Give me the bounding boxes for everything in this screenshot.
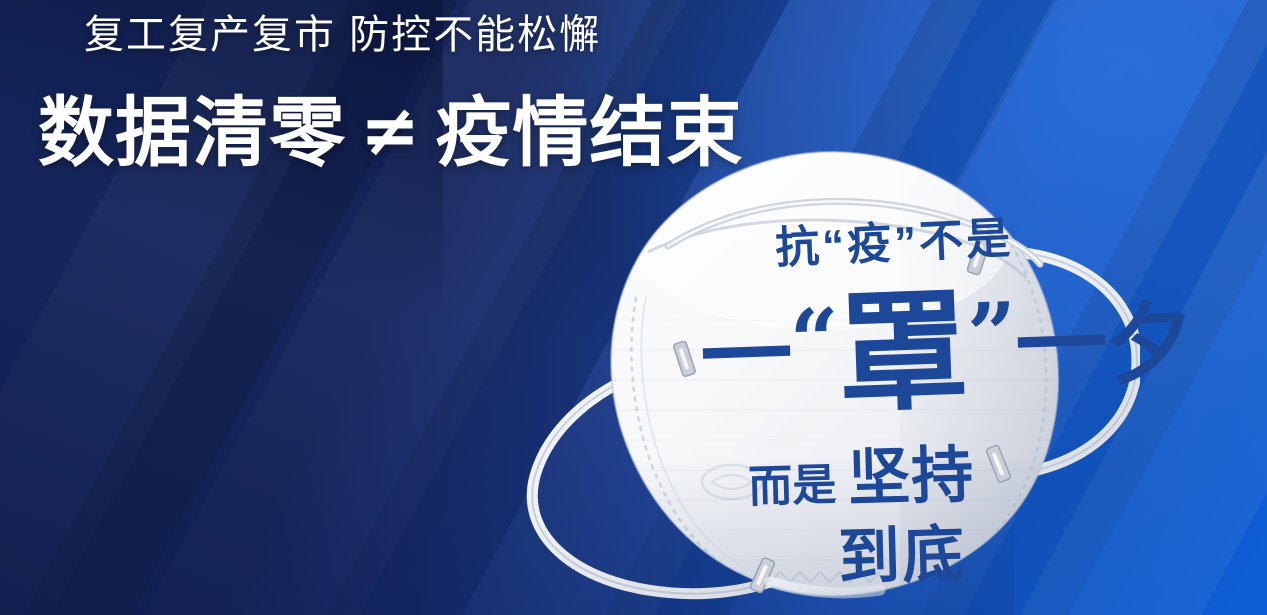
not-equal-icon: ≠ xyxy=(346,88,435,172)
mask-text-line1: 抗“疫”不是 xyxy=(774,202,1015,276)
mask-text-dash-1: 一 xyxy=(699,309,792,404)
main-title-right: 疫情结束 xyxy=(435,91,743,176)
mask-text-zhao: 罩 xyxy=(836,285,970,419)
kicker-text: 复工复产复市 防控不能松懈 xyxy=(84,12,601,58)
poster-canvas: 复工复产复市 防控不能松懈 数据清零≠疫情结束 抗“疫”不是 一“罩”一夕 而是… xyxy=(0,0,1267,615)
mask-text-line4: 到底 xyxy=(837,503,967,596)
mask-text-quote-close: ” xyxy=(966,292,1016,380)
mask-text-dash-2: 一 xyxy=(1014,298,1107,393)
mask-text-xi: 夕 xyxy=(1104,299,1193,390)
main-title-left: 数据清零 xyxy=(38,91,346,176)
mask-text-line2: 一“罩”一夕 xyxy=(698,263,1193,410)
mask-text-quote-open: “ xyxy=(789,298,839,386)
main-title: 数据清零≠疫情结束 xyxy=(38,92,743,176)
mask-text-ershi: 而是 xyxy=(747,449,837,515)
